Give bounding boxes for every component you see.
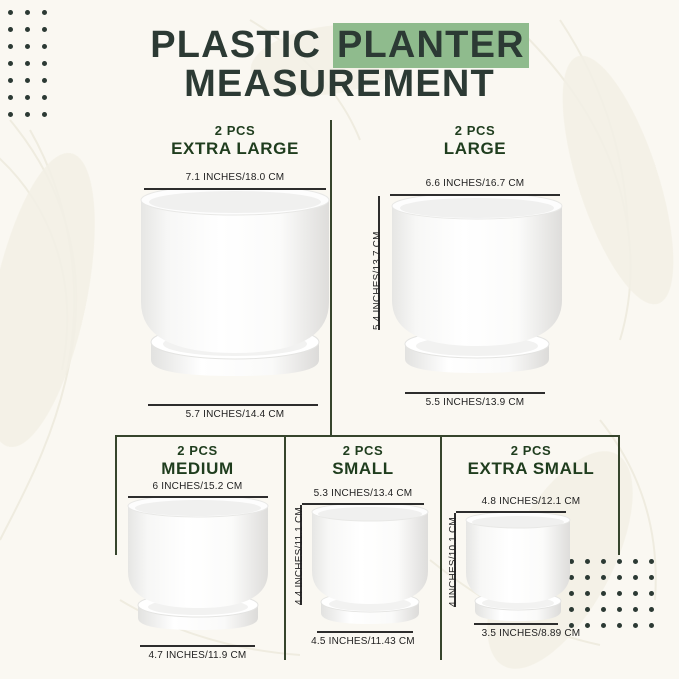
title-line-1: PLASTIC PLANTER <box>0 26 679 65</box>
infographic-canvas: PLASTIC PLANTER MEASUREMENT 2 PCS EXTRA … <box>0 0 679 679</box>
top-dimension-extra-large: 7.1 INCHES/18.0 CM <box>140 172 330 183</box>
section-label-small: 2 PCS SMALL <box>286 444 440 478</box>
size-name-small: SMALL <box>286 459 440 478</box>
pcs-count-small: 2 PCS <box>286 444 440 459</box>
side-dimension-large: 5.4 INCHES/13.7 CM <box>372 231 383 330</box>
dot-grid-bottom-right <box>569 559 665 639</box>
bottom-dimension-extra-large: 5.7 INCHES/14.4 CM <box>140 409 330 420</box>
side-dimension-small: 4.4 INCHES/11.1 CM <box>294 507 305 605</box>
section-label-extra-small: 2 PCS EXTRA SMALL <box>442 444 620 478</box>
bottom-dimension-extra-small: 3.5 INCHES/8.89 CM <box>442 628 620 639</box>
pcs-count-medium: 2 PCS <box>110 444 285 459</box>
bottom-dimension-small: 4.5 INCHES/11.43 CM <box>286 636 440 647</box>
title-planter-highlight: PLANTER <box>333 23 529 68</box>
bottom-dimension-medium: 4.7 INCHES/11.9 CM <box>110 650 285 661</box>
section-label-large: 2 PCS LARGE <box>380 124 570 158</box>
pcs-count-extra-large: 2 PCS <box>140 124 330 139</box>
section-label-medium: 2 PCS MEDIUM <box>110 444 285 478</box>
top-dimension-small: 5.3 INCHES/13.4 CM <box>286 488 440 499</box>
bottom-rule-large <box>405 392 545 394</box>
divider-horizontal-main <box>115 435 620 437</box>
bottom-rule-small <box>317 631 413 633</box>
side-dimension-extra-small: 4 INCHES/10.1 CM <box>448 517 459 607</box>
top-dimension-extra-small: 4.8 INCHES/12.1 CM <box>442 496 620 507</box>
pcs-count-large: 2 PCS <box>380 124 570 139</box>
planter-small <box>305 505 435 635</box>
size-name-extra-small: EXTRA SMALL <box>442 459 620 478</box>
top-dimension-large: 6.6 INCHES/16.7 CM <box>380 178 570 189</box>
pcs-count-extra-small: 2 PCS <box>442 444 620 459</box>
page-title: PLASTIC PLANTER MEASUREMENT <box>0 26 679 104</box>
title-line-2: MEASUREMENT <box>0 65 679 104</box>
bottom-rule-extra-small <box>474 623 558 625</box>
size-name-extra-large: EXTRA LARGE <box>140 139 330 158</box>
top-dimension-medium: 6 INCHES/15.2 CM <box>110 481 285 492</box>
planter-medium <box>120 498 276 638</box>
planter-large <box>383 196 571 392</box>
bottom-rule-medium <box>140 645 255 647</box>
section-label-extra-large: 2 PCS EXTRA LARGE <box>140 124 330 158</box>
title-plastic: PLASTIC <box>150 24 333 66</box>
bottom-dimension-large: 5.5 INCHES/13.9 CM <box>380 397 570 408</box>
size-name-medium: MEDIUM <box>110 459 285 478</box>
bottom-rule-extra-large <box>148 404 318 406</box>
size-name-large: LARGE <box>380 139 570 158</box>
planter-extra-large <box>128 190 343 405</box>
planter-extra-small <box>459 513 577 633</box>
